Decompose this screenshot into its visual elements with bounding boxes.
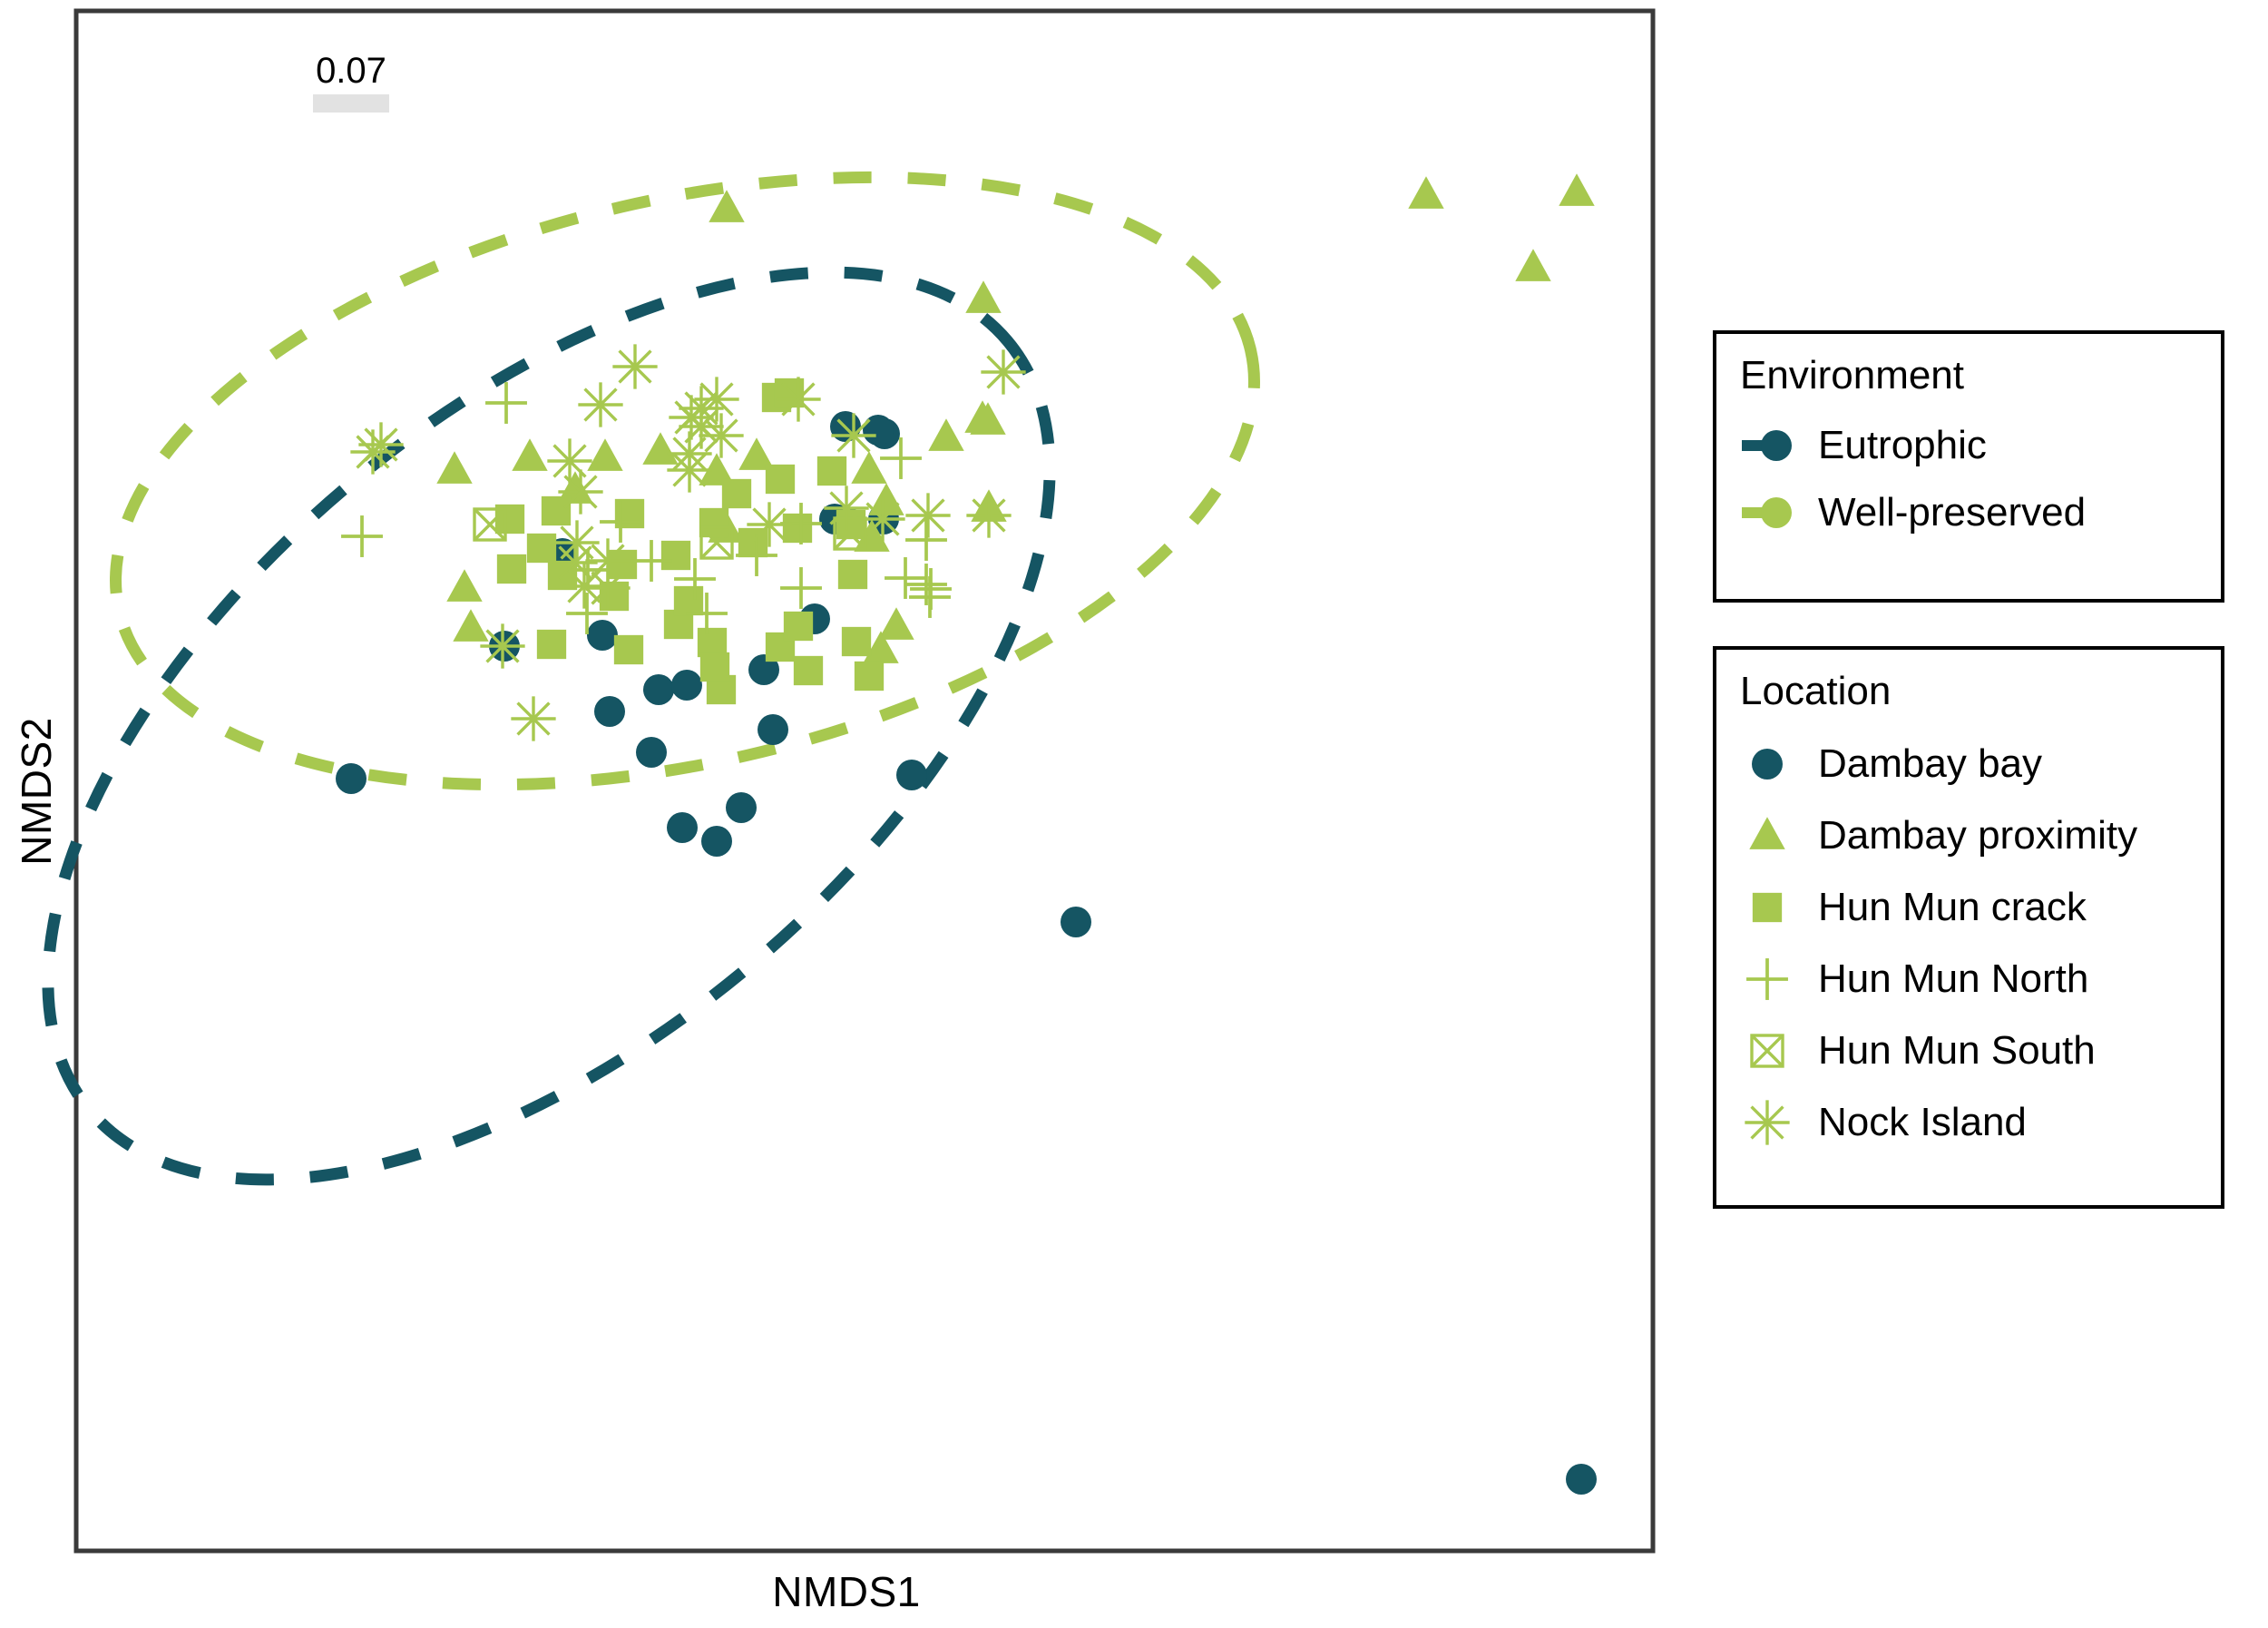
legend-item-label: Dambay bay xyxy=(1818,740,2042,788)
legend-environment-items: EutrophicWell-preserved xyxy=(1740,412,2221,546)
legend-location: Location Dambay bayDambay proximityHun M… xyxy=(1713,646,2224,1209)
circle-icon xyxy=(1740,737,1818,791)
data-point xyxy=(726,792,757,823)
x-axis-title: NMDS1 xyxy=(0,1567,1693,1616)
data-point xyxy=(537,630,566,659)
stress-annotation: 0.07 xyxy=(288,51,415,113)
square-icon xyxy=(1740,880,1818,935)
data-point xyxy=(587,620,618,651)
data-point xyxy=(661,541,690,570)
legend-item-label: Hun Mun North xyxy=(1818,956,2088,1003)
data-point xyxy=(547,438,591,483)
legend-item-dambay-proximity[interactable]: Dambay proximity xyxy=(1740,799,2221,871)
data-point xyxy=(643,674,674,705)
data-point xyxy=(358,422,403,466)
asterisk-icon xyxy=(1740,1095,1818,1150)
legend-item-well-preserved[interactable]: Well-preserved xyxy=(1740,479,2221,546)
data-point xyxy=(1566,1464,1597,1495)
legend-item-label: Well-preserved xyxy=(1818,489,2086,536)
data-point xyxy=(558,469,602,514)
data-point xyxy=(824,485,868,530)
data-point xyxy=(817,456,846,485)
data-point xyxy=(831,413,875,457)
data-point xyxy=(671,670,702,701)
data-point xyxy=(679,404,723,448)
data-point xyxy=(758,714,788,745)
data-point xyxy=(966,493,1011,537)
data-point xyxy=(905,493,950,537)
data-point xyxy=(511,696,555,740)
legend-item-label: Nock Island xyxy=(1818,1099,2027,1146)
stress-value: 0.07 xyxy=(288,51,415,91)
data-point xyxy=(794,656,823,685)
legend-item-label: Dambay proximity xyxy=(1818,812,2137,859)
data-point xyxy=(700,652,729,682)
legend-item-label: Hun Mun crack xyxy=(1818,884,2087,931)
data-point xyxy=(594,696,625,727)
data-point xyxy=(578,382,622,427)
legend-item-label: Eutrophic xyxy=(1818,422,1987,469)
data-point xyxy=(612,344,657,388)
data-point xyxy=(747,502,791,546)
legend-location-items: Dambay bayDambay proximityHun Mun crackH… xyxy=(1740,728,2221,1158)
data-point xyxy=(636,737,667,768)
data-point xyxy=(860,496,904,541)
data-point xyxy=(667,447,711,492)
data-point xyxy=(497,554,526,584)
data-point xyxy=(480,623,524,668)
data-point xyxy=(838,560,867,589)
data-point xyxy=(784,612,813,641)
legend-environment-title: Environment xyxy=(1740,352,2221,399)
line-dot-key xyxy=(1740,485,1818,540)
legend-item-dambay-bay[interactable]: Dambay bay xyxy=(1740,728,2221,799)
legend-item-hun-mun-crack[interactable]: Hun Mun crack xyxy=(1740,871,2221,943)
data-point xyxy=(855,662,884,691)
data-point xyxy=(766,465,795,494)
legend-item-nock-island[interactable]: Nock Island xyxy=(1740,1086,2221,1158)
crossed-square-icon xyxy=(1740,1024,1818,1078)
y-axis-title: NMDS2 xyxy=(12,610,61,973)
stress-highlight-bar xyxy=(313,94,389,113)
data-point xyxy=(699,413,743,457)
plot-frame xyxy=(76,11,1653,1551)
data-point xyxy=(674,586,703,615)
data-point xyxy=(776,377,820,421)
triangle-icon xyxy=(1740,809,1818,863)
data-point xyxy=(542,496,571,525)
data-point xyxy=(336,763,367,794)
data-point xyxy=(527,534,556,563)
plus-icon xyxy=(1740,952,1818,1006)
legend-item-hun-mun-north[interactable]: Hun Mun North xyxy=(1740,943,2221,1015)
legend-item-label: Hun Mun South xyxy=(1818,1027,2096,1074)
legend-location-title: Location xyxy=(1740,668,2221,715)
data-point xyxy=(783,514,812,543)
line-dot-key xyxy=(1740,418,1818,473)
data-point xyxy=(1061,907,1091,937)
nmds-figure: 0.07 NMDS1 NMDS2 Environment EutrophicWe… xyxy=(0,0,2268,1628)
data-point xyxy=(667,812,698,843)
data-point xyxy=(585,538,630,583)
data-point xyxy=(863,415,894,446)
data-point xyxy=(554,520,599,564)
legend-item-eutrophic[interactable]: Eutrophic xyxy=(1740,412,2221,479)
legend-item-hun-mun-south[interactable]: Hun Mun South xyxy=(1740,1015,2221,1086)
data-point xyxy=(614,635,643,664)
data-point xyxy=(701,826,732,857)
data-point xyxy=(981,349,1025,394)
data-point xyxy=(722,479,751,508)
legend-environment: Environment EutrophicWell-preserved xyxy=(1713,330,2224,603)
data-point xyxy=(896,760,927,790)
data-point xyxy=(842,627,871,656)
